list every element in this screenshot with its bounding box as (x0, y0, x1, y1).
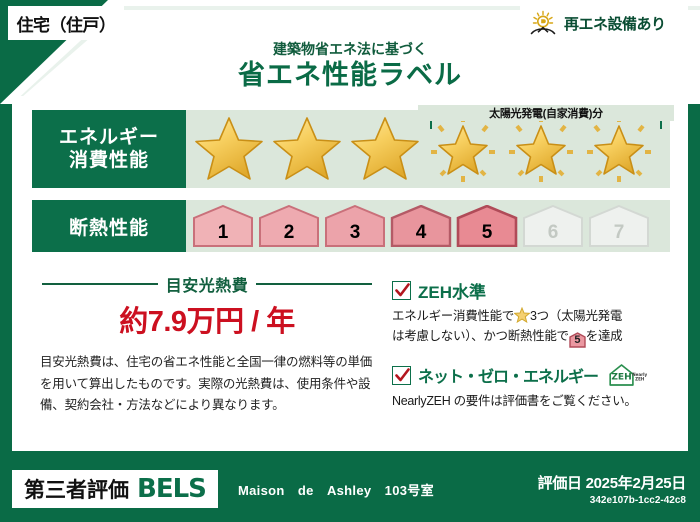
energy-label-line2: 消費性能 (69, 149, 149, 172)
check-icon (394, 367, 411, 384)
sun-renewable-icon (528, 10, 558, 36)
grade-number: 7 (614, 222, 625, 244)
grade-number: 4 (416, 222, 427, 244)
zeh-standard-head: ZEH水準 (392, 278, 674, 303)
zeh-item-standard: ZEH水準 エネルギー消費性能で3つ（太陽光発電は考慮しない）、かつ断熱性能で5… (392, 278, 674, 348)
star-icon (349, 114, 421, 184)
inline-grade-badge: 5 (569, 332, 586, 348)
grade-number: 1 (218, 222, 229, 244)
grade-number: 2 (284, 222, 295, 244)
svg-text:ZEH: ZEH (635, 377, 645, 382)
evaluation-date: 評価日 2025年2月25日 (538, 472, 686, 493)
grade-number: 3 (350, 222, 361, 244)
insulation-grade-7: 7 (588, 205, 650, 247)
rule-left (42, 283, 158, 285)
renewable-equipment-badge: 再エネ設備あり (520, 6, 688, 40)
zeh-desc-stars: 3つ（太陽光発電 (530, 309, 622, 323)
star-filled-2 (268, 111, 346, 187)
insulation-grade-6: 6 (522, 205, 584, 247)
insulation-performance-row: 断熱性能 1 2 3 (32, 200, 670, 252)
zeh-netzero-head: ネット・ゼロ・エネルギー ZEH Nearly ZEH (392, 362, 674, 388)
star-filled-1 (190, 111, 268, 187)
insulation-grade-2: 2 (258, 205, 320, 247)
utility-cost-note: 目安光熱費は、住宅の省エネ性能と全国一律の燃料等の単価を用いて算出したものです。… (40, 352, 376, 417)
star-icon (193, 114, 265, 184)
footer-meta: 評価日 2025年2月25日 342e107b-1cc2-42c8 (538, 472, 686, 506)
zeh-desc-part1: エネルギー消費性能で (392, 309, 514, 323)
zeh-netzero-checkbox[interactable] (392, 366, 411, 385)
energy-performance-label: エネルギー 消費性能 (32, 110, 186, 188)
zeh-block: ZEH水準 エネルギー消費性能で3つ（太陽光発電は考慮しない）、かつ断熱性能で5… (392, 278, 674, 426)
evaluation-id: 342e107b-1cc2-42c8 (538, 495, 686, 506)
zeh-desc-part2: は考慮しない）、かつ断熱性能で (392, 329, 569, 343)
utility-cost-header: 目安光熱費 (42, 272, 372, 296)
zeh-standard-title: ZEH水準 (418, 278, 486, 303)
energy-label-line1: エネルギー (59, 126, 159, 149)
star-filled-3 (346, 111, 424, 187)
grade-number: 5 (482, 222, 493, 244)
zeh-netzero-desc: NearlyZEH の要件は評価書をご覧ください。 (392, 391, 674, 411)
insulation-grade-5: 5 (456, 205, 518, 247)
zeh-nearly-logo-icon: ZEH Nearly ZEH (607, 362, 647, 388)
zeh-standard-desc: エネルギー消費性能で3つ（太陽光発電は考慮しない）、かつ断熱性能で5を達成 (392, 306, 674, 348)
solar-bracket-label: 太陽光発電(自家消費)分 (418, 105, 674, 121)
header-titles: 建築物省エネ法に基づく 省エネ性能ラベル (0, 42, 700, 93)
page-title: 省エネ性能ラベル (0, 59, 700, 93)
grade-number: 6 (548, 222, 559, 244)
insulation-grade-1: 1 (192, 205, 254, 247)
utility-cost-amount: 約7.9万円 / 年 (42, 298, 372, 340)
bels-jp-label: 第三者評価 (24, 474, 129, 504)
rule-right (256, 283, 372, 285)
building-name: Maison de Ashley 103号室 (238, 480, 434, 499)
footer: 第三者評価 BELS Maison de Ashley 103号室 評価日 20… (0, 460, 700, 522)
zeh-desc-part3: を達成 (586, 329, 623, 343)
energy-star-track: 太陽光発電(自家消費)分 (186, 110, 670, 188)
subtitle-law: 建築物省エネ法に基づく (0, 42, 700, 57)
zeh-netzero-title: ネット・ゼロ・エネルギー (418, 363, 598, 387)
zeh-standard-checkbox[interactable] (392, 281, 411, 300)
zeh-item-net-zero: ネット・ゼロ・エネルギー ZEH Nearly ZEH NearlyZEH の要… (392, 362, 674, 411)
energy-performance-row: エネルギー 消費性能 (32, 110, 670, 188)
inline-star-icon (514, 307, 530, 323)
main-card: エネルギー 消費性能 (12, 96, 688, 451)
bels-badge: 第三者評価 BELS (12, 470, 218, 508)
svg-text:ZEH: ZEH (611, 373, 631, 383)
insulation-grade-4: 4 (390, 205, 452, 247)
energy-performance-label: 住宅（住戸） 再エネ設備あり 建築物省エネ法に基づく 省エネ性能ラベル (0, 0, 700, 522)
insulation-grade-track: 1 2 3 4 (186, 200, 670, 252)
insulation-grade-3: 3 (324, 205, 386, 247)
utility-cost-heading: 目安光熱費 (166, 272, 249, 296)
housing-type-tag: 住宅（住戸） (8, 6, 124, 40)
renewable-badge-label: 再エネ設備あり (564, 13, 666, 34)
star-icon (271, 114, 343, 184)
check-icon (394, 282, 411, 299)
insulation-performance-label: 断熱性能 (32, 200, 186, 252)
inline-grade-value: 5 (574, 334, 580, 346)
bels-en-label: BELS (137, 474, 206, 504)
